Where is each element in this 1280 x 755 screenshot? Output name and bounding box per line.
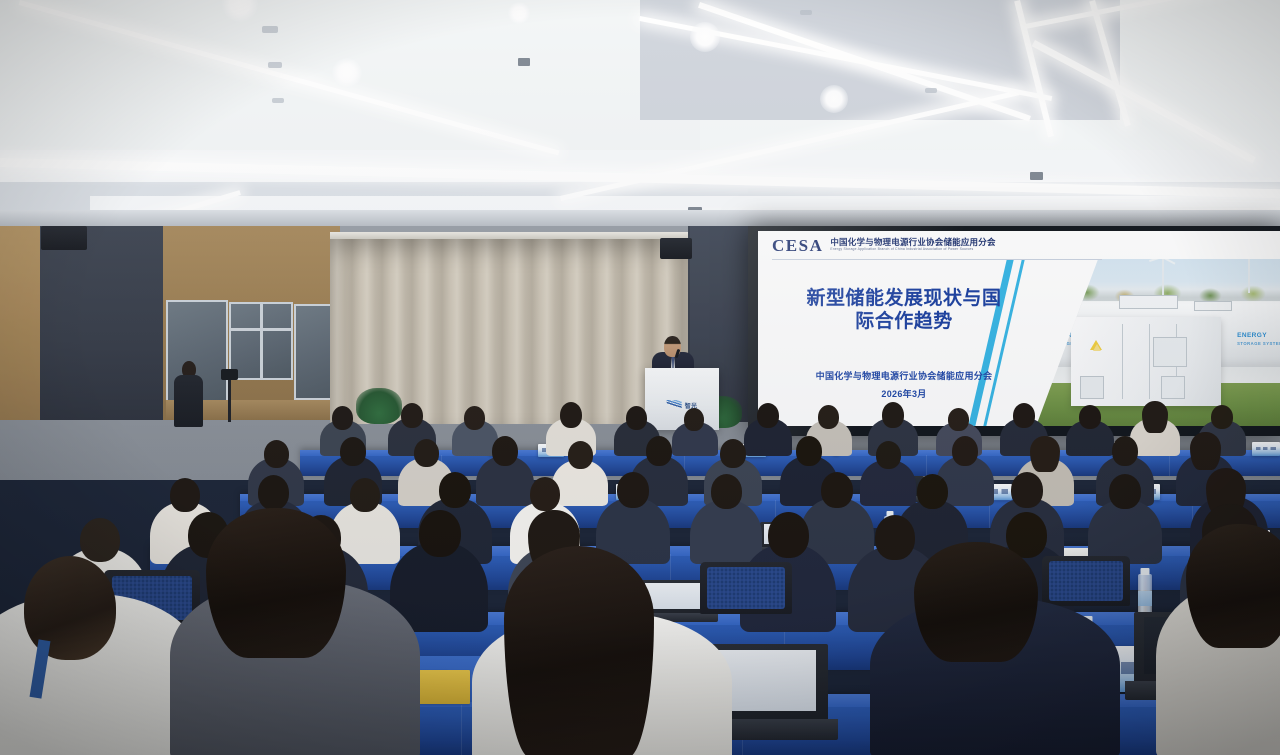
audience-head: [796, 436, 822, 466]
audience-head: [340, 437, 366, 466]
foreground-attendee-center-left-hair: [206, 508, 346, 658]
wall-speaker-right: [660, 238, 692, 259]
slide-title-line-2: 际合作趋势: [776, 310, 1032, 333]
ceiling-downlight: [332, 58, 362, 88]
cesa-logo-mark: CESA: [772, 237, 823, 254]
wall-speaker-left: [41, 226, 87, 250]
audience-head: [1109, 474, 1141, 509]
ceiling-downlight: [508, 2, 530, 24]
slide-title: 新型储能发展现状与国 际合作趋势: [776, 287, 1032, 333]
ceiling-downlight: [690, 22, 720, 52]
audience-hair: [1142, 401, 1168, 433]
audience-head: [720, 439, 746, 468]
presentation-slide: ENERGY STORAGE SYSTEM ENERGY STORAGE SYS…: [758, 231, 1280, 426]
foreground-attendee-center-hair: [504, 546, 654, 755]
audience-head: [821, 472, 853, 508]
audience-head: [1011, 472, 1043, 508]
audience-head: [414, 439, 439, 467]
ceiling-vent: [925, 88, 937, 93]
container-control-panel: [1153, 337, 1186, 367]
container-label-sub-text-2: STORAGE SYSTEM: [1237, 341, 1280, 346]
ceiling-vent: [800, 10, 812, 15]
audience-head: [1013, 403, 1035, 428]
audience-head: [560, 402, 582, 428]
audience-hair: [1190, 432, 1221, 470]
slide-organization: 中国化学与物理电源行业协会储能应用分会: [772, 369, 1036, 382]
audience-head: [1211, 405, 1233, 429]
audience-hair: [1030, 436, 1060, 472]
audience-head: [332, 406, 353, 430]
audience-head: [876, 441, 901, 469]
audience-head: [80, 518, 120, 562]
container-label-right: ENERGY STORAGE SYSTEM: [1237, 332, 1280, 345]
ceiling-downlight: [820, 85, 848, 113]
ceiling-spotlight-fixture: [1030, 172, 1043, 180]
slide-title-line-1: 新型储能发展现状与国: [776, 287, 1032, 310]
audience-member: [1088, 500, 1162, 564]
ceiling-vent: [262, 26, 278, 33]
audience-head: [264, 440, 289, 468]
slide-logo-divider: [772, 259, 1102, 260]
audience-head: [818, 405, 839, 429]
name-tent-card: [1252, 442, 1280, 456]
audience-head: [258, 475, 289, 510]
conference-chair[interactable]: [700, 562, 792, 614]
foreground-attendee-far-right-hair: [1186, 524, 1280, 648]
window-mullion: [260, 302, 263, 380]
cesa-logo-en-text: Energy Storage Application Branch of Chi…: [830, 248, 995, 251]
audience-head: [419, 510, 461, 557]
window-transom: [229, 328, 293, 331]
audience-member: [690, 500, 762, 564]
wall-soffit: [0, 210, 1280, 226]
audience-head: [170, 478, 200, 512]
container-label-main-text-2: ENERGY: [1237, 332, 1267, 339]
conference-chair[interactable]: [1042, 556, 1130, 606]
foreground-attendee-right-hair: [914, 542, 1038, 662]
water-bottle[interactable]: [1138, 574, 1152, 616]
audience-head: [768, 512, 809, 558]
conference-hall-photo: ENERGY STORAGE SYSTEM ENERGY STORAGE SYS…: [0, 0, 1280, 755]
camera-head-icon: [221, 369, 238, 380]
slide-logo-bar: CESA 中国化学与物理电源行业协会储能应用分会 Energy Storage …: [758, 231, 1280, 259]
audience-head: [952, 436, 978, 466]
audience-head: [439, 472, 471, 508]
audience-head: [948, 408, 969, 431]
audience-head: [617, 472, 649, 508]
audience-head: [530, 477, 560, 511]
audience-head: [492, 436, 518, 466]
audience-head: [882, 402, 904, 428]
audience-head: [711, 474, 742, 509]
audience-head: [464, 406, 485, 430]
audience-head: [646, 436, 672, 466]
ceiling-vent: [268, 62, 282, 68]
storage-container-front: [1071, 317, 1221, 407]
audience-head: [684, 408, 704, 431]
audience-area: [0, 398, 1280, 755]
electrical-hazard-icon-inner: [1093, 344, 1101, 351]
cesa-logo-cn-text: 中国化学与物理电源行业协会储能应用分会: [830, 238, 995, 247]
ceiling-vent: [272, 98, 284, 103]
wall-column-dark-left: [40, 224, 163, 420]
container-vent-grille: [1161, 376, 1185, 399]
audience-head: [626, 406, 647, 430]
audience-head: [1112, 436, 1138, 466]
audience-head: [350, 478, 380, 512]
container-vent-grille: [1080, 376, 1104, 399]
audience-head: [568, 441, 593, 469]
slide-photo-energy-storage: ENERGY STORAGE SYSTEM ENERGY STORAGE SYS…: [1012, 231, 1280, 426]
audience-head: [917, 474, 948, 509]
ceiling-spotlight-fixture: [518, 58, 530, 66]
ceiling: [0, 0, 1280, 236]
audience-head: [875, 515, 915, 560]
audience-head: [401, 403, 423, 428]
container-roof-unit: [1194, 301, 1232, 311]
audience-head: [1079, 405, 1101, 429]
audience-head: [757, 403, 779, 428]
curtain-rail: [330, 232, 690, 239]
container-roof-unit: [1119, 295, 1178, 309]
